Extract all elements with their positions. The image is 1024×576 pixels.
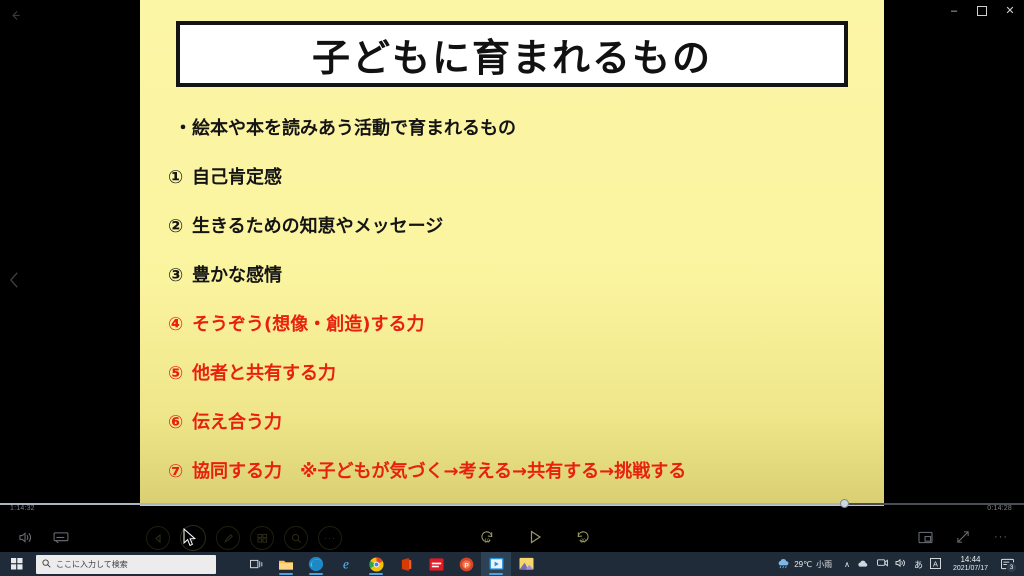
remaining-time: 0:14:28 [987,505,1012,512]
slide-lead-line: ・絵本や本を読みあう活動で育まれるもの [174,104,880,153]
player-right-controls: ··· [916,524,1010,550]
play-icon[interactable] [526,528,544,546]
list-item: ③豊かな感情 [168,251,880,300]
list-item: ②生きるための知恵やメッセージ [168,202,880,251]
list-item-number: ③ [168,251,192,300]
video-player: – ✕ 子どもに育まれるもの ・絵本や本を読みあう活動で育まれるもの ①自己肯定… [0,0,1024,552]
taskbar-item-microsoft-office[interactable] [391,552,421,576]
ime-kana-icon[interactable]: A [930,558,941,571]
running-indicator [279,573,293,575]
close-button[interactable]: ✕ [996,0,1024,22]
weather-temperature: 29℃ [794,560,812,569]
list-item: ④そうぞう(想像・創造)する力 [168,300,880,349]
list-item-label: そうぞう(想像・創造)する力 [192,300,424,349]
action-center-icon[interactable]: 3 [994,552,1020,576]
taskbar-item-internet-explorer[interactable]: e [331,552,361,576]
list-item-number: ④ [168,300,192,349]
fullscreen-icon[interactable] [954,528,972,546]
taskbar-item-file-explorer[interactable] [271,552,301,576]
list-item-label: 豊かな感情 [192,251,282,300]
running-indicator [369,573,383,575]
taskbar-app-icons: e [241,552,541,576]
rewind-10-button[interactable]: 10 [478,528,496,546]
presentation-controls: ··· [146,525,342,551]
maximize-button[interactable] [968,0,996,22]
progress-fill [0,503,846,505]
network-icon[interactable] [877,558,888,570]
rain-cloud-icon [777,558,790,571]
chevron-left-icon[interactable] [2,266,26,294]
running-indicator [489,573,503,575]
weather-widget[interactable]: 29℃ 小雨 [771,558,838,571]
closed-captions-icon[interactable] [52,528,70,546]
previous-slide-button[interactable] [146,526,170,550]
task-view-icon[interactable] [241,552,271,576]
taskbar-item-movies-and-tv[interactable] [481,552,511,576]
list-item-label: 自己肯定感 [192,153,282,202]
all-slides-button[interactable] [250,526,274,550]
list-item: ⑥伝え合う力 [168,398,880,447]
clock-time: 14:44 [960,555,980,564]
svg-text:A: A [933,559,938,568]
taskbar-item-pdf-reader[interactable] [421,552,451,576]
search-placeholder: ここに入力して検索 [56,559,128,570]
slide-title-box: 子どもに育まれるもの [176,21,848,87]
list-item: ⑦協同する力 ※子どもが気づく→考える→共有する→挑戦する [168,447,880,496]
taskbar-item-powerpoint[interactable]: P [451,552,481,576]
taskbar-item-photos[interactable] [511,552,541,576]
list-item: ⑤他者と共有する力 [168,349,880,398]
running-indicator [309,573,323,575]
taskbar-system-tray: 29℃ 小雨 ∧ [771,552,1024,576]
notification-count-badge: 3 [1006,562,1017,573]
progress-handle[interactable] [840,499,849,508]
elapsed-time: 1:14:32 [10,505,35,512]
search-icon [42,555,51,573]
picture-in-picture-icon[interactable] [916,528,934,546]
svg-text:e: e [343,556,349,571]
search-input[interactable]: ここに入力して検索 [36,555,216,574]
minimize-button[interactable]: – [940,0,968,22]
list-item-number: ② [168,202,192,251]
tray-icons: ∧ [838,558,947,571]
list-item-number: ⑤ [168,349,192,398]
forward-amount-label: 30 [580,538,586,544]
list-item-number: ⑥ [168,398,192,447]
presentation-slide: 子どもに育まれるもの ・絵本や本を読みあう活動で育まれるもの ①自己肯定感 ②生… [140,0,884,506]
maximize-icon [977,6,987,16]
list-item-label: 生きるための知恵やメッセージ [192,202,443,251]
weather-description: 小雨 [816,559,832,570]
list-item-label: 他者と共有する力 [192,349,336,398]
rewind-amount-label: 10 [484,538,490,544]
player-center-controls: 10 30 [478,524,592,550]
slide-body: ・絵本や本を読みあう活動で育まれるもの ①自己肯定感 ②生きるための知恵やメッセ… [160,104,880,496]
player-left-controls [16,524,70,550]
svg-text:P: P [464,562,469,569]
forward-30-button[interactable]: 30 [574,528,592,546]
list-item: ①自己肯定感 [168,153,880,202]
back-arrow-icon[interactable] [4,4,26,26]
taskbar-item-google-chrome[interactable] [361,552,391,576]
mouse-cursor [183,528,197,548]
pen-tool-button[interactable] [216,526,240,550]
list-item-label: 協同する力 ※子どもが気づく→考える→共有する→挑戦する [192,447,686,496]
list-item-number: ① [168,153,192,202]
show-hidden-icons-button[interactable]: ∧ [844,560,850,569]
volume-tray-icon[interactable] [895,558,907,570]
windows-taskbar: ここに入力して検索 [0,552,1024,576]
windows-start-icon[interactable] [0,552,34,576]
window-controls: – ✕ [940,0,1024,22]
page-title: 子どもに育まれるもの [312,27,712,82]
more-options-button[interactable]: ··· [318,526,342,550]
taskbar-item-microsoft-edge[interactable] [301,552,331,576]
taskbar-clock[interactable]: 14:44 2021/07/17 [947,555,994,572]
zoom-button[interactable] [284,526,308,550]
ime-mode-icon[interactable]: あ [914,558,923,571]
clock-date: 2021/07/17 [953,565,988,573]
volume-icon[interactable] [16,528,34,546]
screen-root: – ✕ 子どもに育まれるもの ・絵本や本を読みあう活動で育まれるもの ①自己肯定… [0,0,1024,576]
more-options-icon[interactable]: ··· [992,528,1010,546]
video-progress-bar[interactable] [0,502,1024,505]
list-item-number: ⑦ [168,447,192,496]
list-item-label: 伝え合う力 [192,398,282,447]
onedrive-icon[interactable] [857,559,870,570]
